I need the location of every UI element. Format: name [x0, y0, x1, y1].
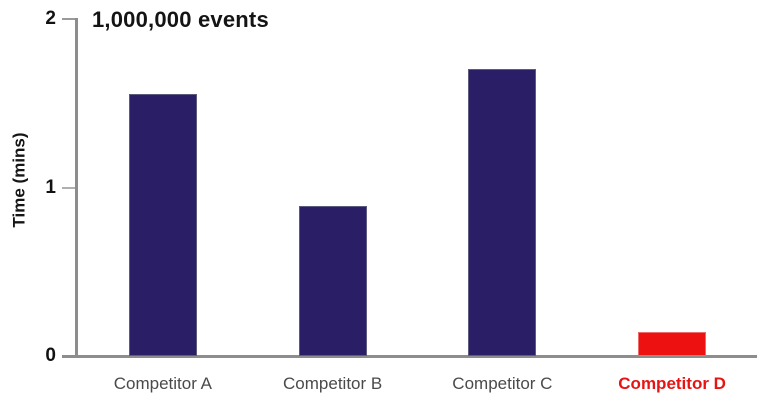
- y-tick-label-2: 2: [0, 9, 56, 28]
- y-tick-label-1: 1: [0, 178, 56, 197]
- y-tick-label-0: 0: [0, 346, 56, 365]
- x-label-competitor-a: Competitor A: [78, 374, 248, 394]
- plot-area: [78, 18, 757, 356]
- bar-competitor-c: [468, 69, 536, 356]
- bar-competitor-a: [129, 94, 197, 356]
- bar-competitor-d: [638, 332, 706, 356]
- x-label-competitor-c: Competitor C: [418, 374, 588, 394]
- bar-chart: Time (mins) 2 1 0 1,000,000 events Compe…: [0, 0, 781, 419]
- x-label-competitor-b: Competitor B: [248, 374, 418, 394]
- bar-competitor-b: [299, 206, 367, 356]
- x-axis-category-labels: Competitor A Competitor B Competitor C C…: [78, 374, 757, 404]
- x-label-competitor-d: Competitor D: [587, 374, 757, 394]
